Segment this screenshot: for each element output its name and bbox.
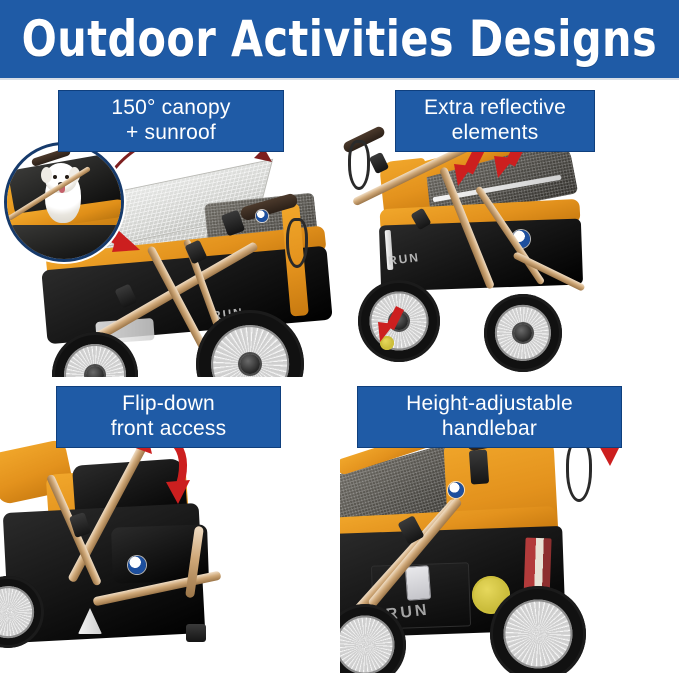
- panel-canopy-sunroof: 150° canopy + sunroof RUN: [0, 82, 339, 377]
- panel-reflective-elements: Extra reflective elements RUN: [340, 82, 679, 377]
- panel-2-caption: Extra reflective elements: [395, 90, 595, 152]
- panel-3-caption-line-1: Flip-down: [67, 391, 270, 416]
- frame-clamp-lower: [186, 624, 206, 642]
- arrow-red-wheel: [376, 304, 410, 348]
- product-feature-infographic: Outdoor Activities Designs 150° canopy +…: [0, 0, 679, 679]
- dog-eye-left: [53, 175, 57, 179]
- panel-4-caption: Height-adjustable handlebar: [357, 386, 622, 448]
- front-wheel-hub: [514, 324, 532, 342]
- wrist-strap: [286, 218, 308, 268]
- brand-badge-icon: [128, 556, 146, 574]
- panel-2-caption-line-2: elements: [406, 120, 584, 145]
- feature-panel-grid: 150° canopy + sunroof RUN: [0, 82, 679, 679]
- dog-in-stroller-closeup-inset: [4, 142, 124, 262]
- panel-1-caption: 150° canopy + sunroof: [58, 90, 284, 152]
- header-banner: Outdoor Activities Designs: [0, 0, 679, 78]
- panel-height-adjustable-handlebar: Height-adjustable handlebar RUN: [340, 378, 679, 673]
- panel-1-caption-line-2: + sunroof: [69, 120, 273, 145]
- phone-in-pocket: [405, 565, 431, 601]
- panel-4-caption-line-1: Height-adjustable: [368, 391, 611, 416]
- panel-3-caption: Flip-down front access: [56, 386, 281, 448]
- front-wheel-hub: [86, 366, 104, 377]
- brand-badge-icon: [256, 210, 268, 222]
- page-title: Outdoor Activities Designs: [22, 14, 657, 64]
- brand-badge-icon: [448, 482, 464, 498]
- handle-height-clamp: [469, 449, 489, 484]
- rear-wheel-hub: [240, 354, 260, 374]
- panel-3-caption-line-2: front access: [67, 416, 270, 441]
- panel-4-caption-line-2: handlebar: [368, 416, 611, 441]
- panel-flip-down-front-access: Flip-down front access: [0, 378, 339, 673]
- panel-2-caption-line-1: Extra reflective: [406, 95, 584, 120]
- dog-ear-left: [41, 167, 52, 183]
- header-divider: [0, 78, 679, 80]
- panel-1-caption-line-1: 150° canopy: [69, 95, 273, 120]
- wrist-strap: [348, 140, 370, 190]
- rear-wheel: [490, 586, 586, 673]
- inset-basket-base: [4, 225, 124, 259]
